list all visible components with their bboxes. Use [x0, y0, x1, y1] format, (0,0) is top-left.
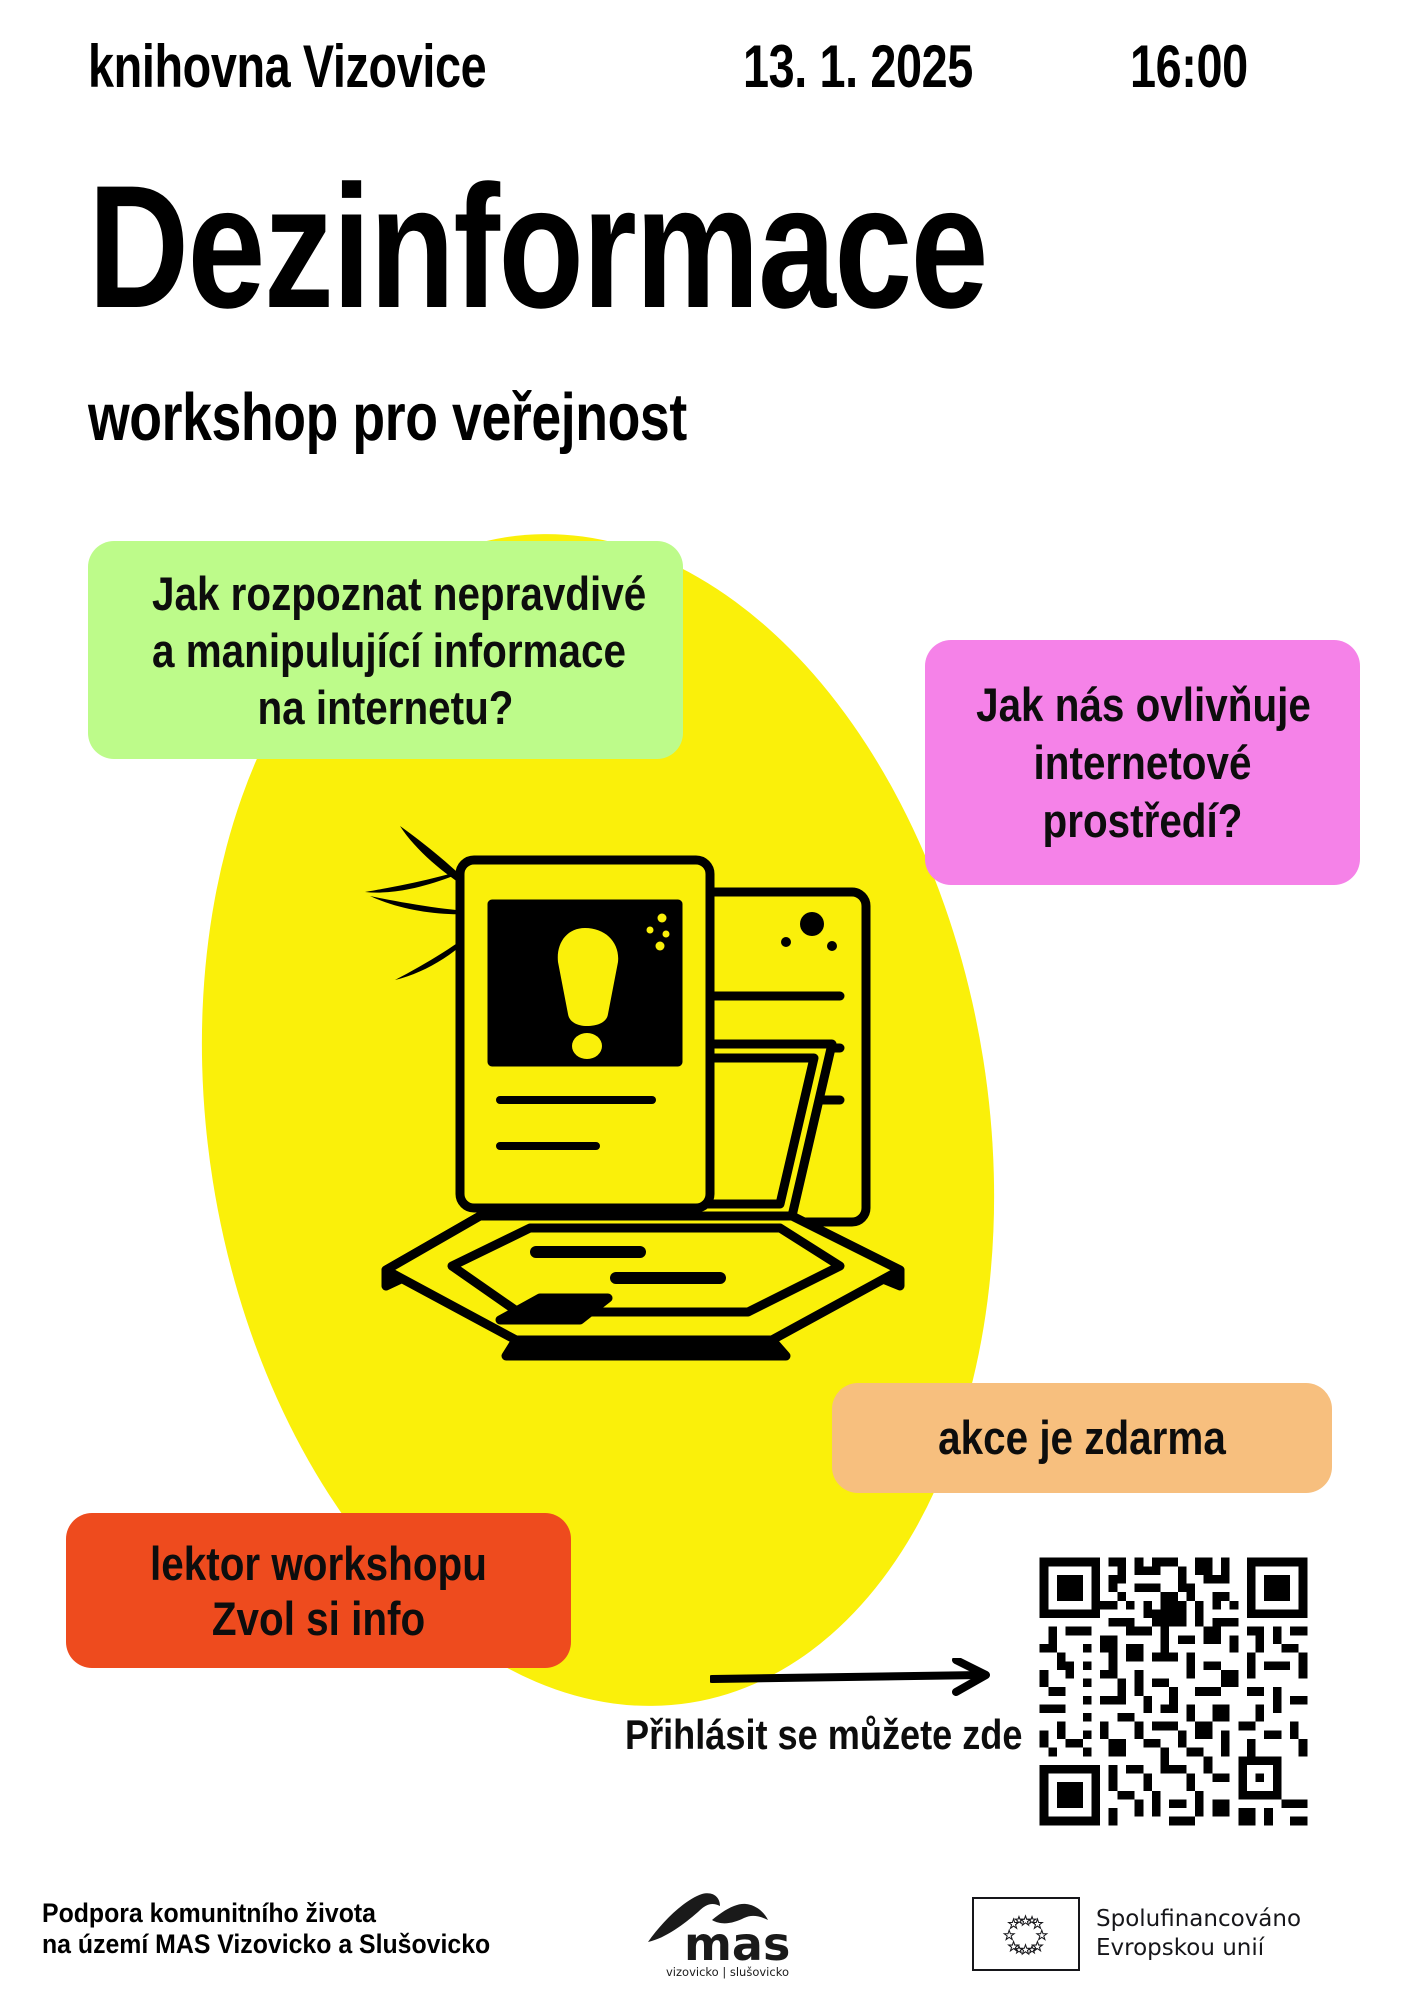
callout-red-line-1: lektor workshopu: [122, 1536, 515, 1591]
date-label: 13. 1. 2025: [743, 36, 973, 98]
callout-orange-line-1: akce je zdarma: [888, 1411, 1277, 1465]
mas-wordmark: mas: [684, 1917, 790, 1971]
eu-stars-circle: [1004, 1916, 1047, 1954]
qr-code[interactable]: [1031, 1549, 1316, 1834]
mas-logo-svg: mas vizovicko | slušovicko: [640, 1886, 800, 1982]
right-arrow-svg: [710, 1658, 1000, 1698]
laptop-with-warning-popup-illustration: [340, 800, 960, 1400]
callout-green-line-3: na internetu?: [152, 679, 619, 736]
callout-bubble-green: Jak rozpoznat nepravdivé a manipulující …: [88, 541, 683, 759]
eu-cofunding-logo: Spolufinancováno Evropskou unií: [972, 1890, 1312, 1978]
callout-green-line-2: a manipulující informace: [152, 622, 619, 679]
page-title: Dezinformace: [88, 168, 987, 328]
right-arrow-icon: [710, 1658, 1000, 1698]
callout-pink-line-2: internetové: [976, 734, 1309, 792]
time-label: 16:00: [1130, 36, 1248, 98]
signup-instruction-label: Přihlásit se můžete zde: [625, 1712, 1022, 1758]
callout-bubble-lecturer: lektor workshopu Zvol si info: [66, 1513, 571, 1668]
funding-support-text: Podpora komunitního života na území MAS …: [42, 1898, 490, 1960]
callout-red-line-2: Zvol si info: [122, 1591, 515, 1646]
mas-logo: mas vizovicko | slušovicko: [640, 1886, 800, 1982]
eu-caption-line-2: Evropskou unií: [1096, 1934, 1301, 1963]
funding-support-line-2: na území MAS Vizovicko a Slušovicko: [42, 1929, 490, 1960]
mas-tagline: vizovicko | slušovicko: [666, 1965, 789, 1979]
eu-flag-icon: [972, 1897, 1080, 1971]
poster-canvas: knihovna Vizovice 13. 1. 2025 16:00 Dezi…: [0, 0, 1414, 2000]
callout-green-line-1: Jak rozpoznat nepravdivé: [152, 565, 619, 622]
qr-code-svg[interactable]: [1031, 1549, 1316, 1834]
funding-support-line-1: Podpora komunitního života: [42, 1898, 490, 1929]
laptop-illustration-svg: [340, 800, 960, 1400]
venue-label: knihovna Vizovice: [88, 36, 486, 98]
callout-pink-line-3: prostředí?: [976, 792, 1309, 850]
page-subtitle: workshop pro veřejnost: [88, 384, 687, 452]
callout-pink-line-1: Jak nás ovlivňuje: [976, 676, 1309, 734]
eu-stars-svg: [974, 1899, 1077, 1968]
eu-cofunding-caption: Spolufinancováno Evropskou unií: [1096, 1905, 1301, 1963]
callout-bubble-free-admission: akce je zdarma: [832, 1383, 1332, 1493]
callout-bubble-pink: Jak nás ovlivňuje internetové prostředí?: [925, 640, 1360, 885]
eu-caption-line-1: Spolufinancováno: [1096, 1905, 1301, 1934]
header-bar: knihovna Vizovice 13. 1. 2025 16:00: [88, 36, 1328, 116]
